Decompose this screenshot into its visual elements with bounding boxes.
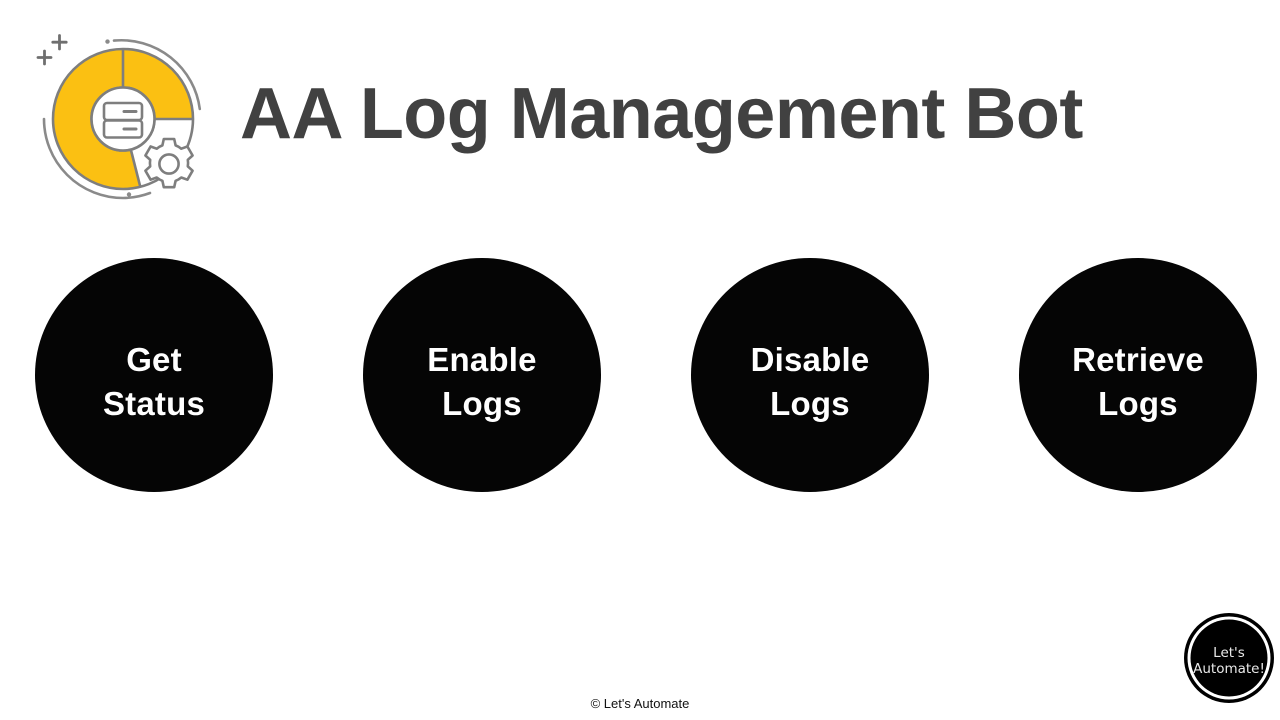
- badge-label-line2: Automate!: [1193, 661, 1265, 677]
- page-title: AA Log Management Bot: [240, 62, 1083, 166]
- badge-label-line1: Let's: [1213, 645, 1245, 661]
- outer-arc-dot-top: [105, 39, 109, 43]
- plus-sparkle-small: [38, 51, 51, 64]
- gear-icon: [145, 139, 192, 187]
- action-button-get-status[interactable]: Get Status: [35, 258, 273, 492]
- action-label-line2: Logs: [442, 382, 522, 426]
- action-label-line1: Enable: [427, 338, 536, 382]
- action-label-line2: Status: [103, 382, 205, 426]
- outer-arc-dot-bottom: [127, 192, 131, 196]
- action-label-line1: Disable: [751, 338, 870, 382]
- action-label-line2: Logs: [770, 382, 850, 426]
- lets-automate-badge: Let's Automate!: [1182, 611, 1276, 705]
- action-button-disable-logs[interactable]: Disable Logs: [691, 258, 929, 492]
- action-label-line1: Get: [126, 338, 182, 382]
- server-rack-icon: [104, 103, 142, 138]
- plus-sparkle-large: [53, 36, 66, 50]
- action-button-enable-logs[interactable]: Enable Logs: [363, 258, 601, 492]
- action-label-line1: Retrieve: [1072, 338, 1204, 382]
- footer-copyright: © Let's Automate: [0, 696, 1280, 711]
- action-button-retrieve-logs[interactable]: Retrieve Logs: [1019, 258, 1257, 492]
- log-management-logo: [28, 24, 218, 204]
- page-header: AA Log Management Bot: [0, 0, 1280, 215]
- action-button-row: Get Status Enable Logs Disable Logs Retr…: [0, 258, 1280, 498]
- action-label-line2: Logs: [1098, 382, 1178, 426]
